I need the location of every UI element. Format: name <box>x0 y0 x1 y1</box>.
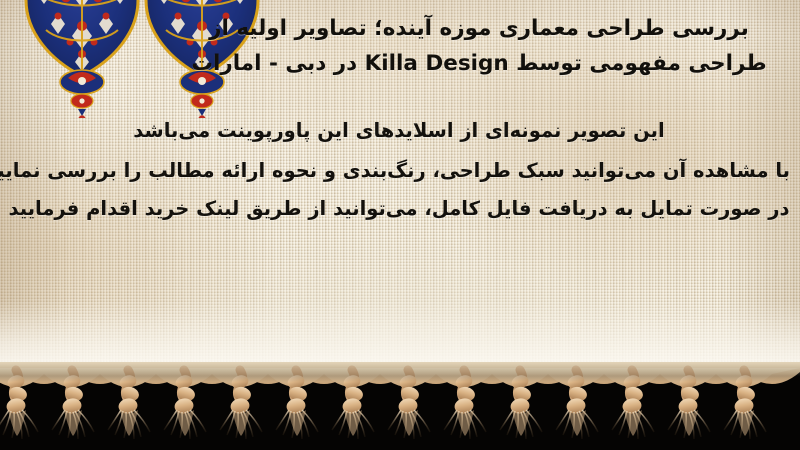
carpet-fringe <box>0 362 800 450</box>
body-line-3: در صورت تمایل به دریافت فایل کامل، می‌تو… <box>8 190 790 228</box>
title-line-1: بررسی طراحی معماری موزه آینده؛ تصاویر او… <box>174 11 784 46</box>
body-line-2: با مشاهده آن می‌توانید سبک طراحی، رنگ‌بن… <box>8 152 790 190</box>
slide-body-text: این تصویر نمونه‌ای از اسلایدهای این پاور… <box>8 112 790 228</box>
persian-medallion-ornament <box>22 0 142 118</box>
slide-title: بررسی طراحی معماری موزه آینده؛ تصاویر او… <box>174 11 784 81</box>
title-line-2: طراحی مفهومی توسط Killa Design در دبی - … <box>174 46 784 81</box>
body-line-1: این تصویر نمونه‌ای از اسلایدهای این پاور… <box>8 112 790 150</box>
slide-canvas: بررسی طراحی معماری موزه آینده؛ تصاویر او… <box>0 0 800 450</box>
